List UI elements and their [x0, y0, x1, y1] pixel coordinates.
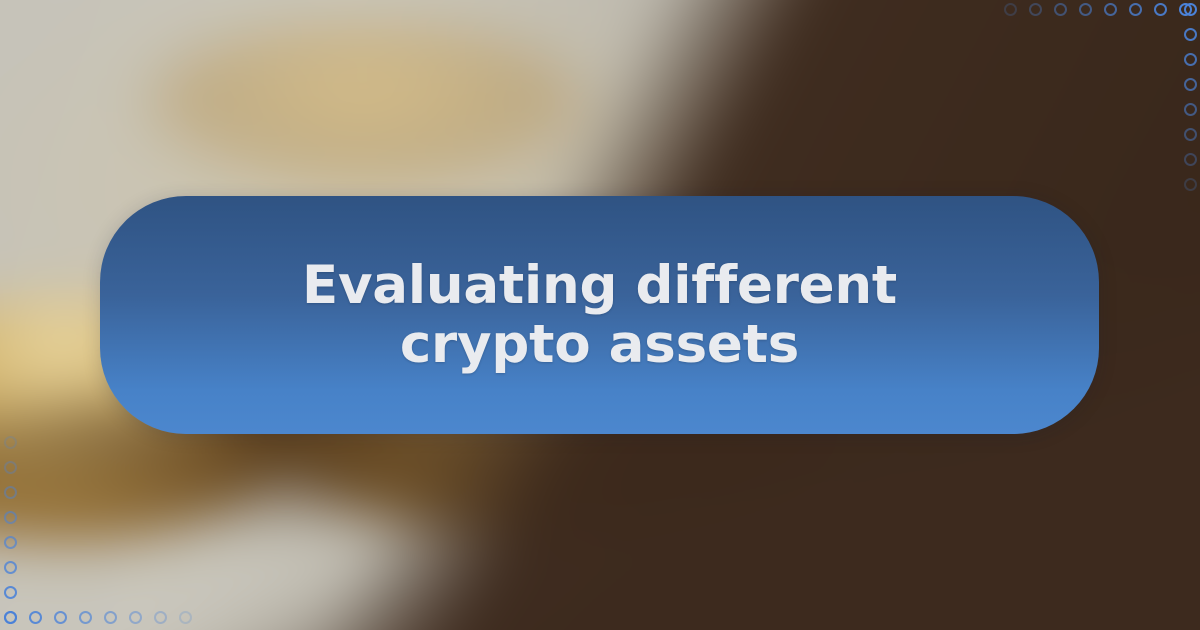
- decor-dot: [129, 611, 142, 624]
- decor-dot: [1184, 153, 1197, 166]
- decor-dot: [54, 611, 67, 624]
- decor-dots-bottom-left: [4, 611, 204, 627]
- decor-dot: [179, 611, 192, 624]
- decor-dot: [4, 536, 17, 549]
- decor-dots-right: [1184, 3, 1200, 203]
- decor-dot: [1129, 3, 1142, 16]
- decor-dot: [1184, 103, 1197, 116]
- decor-dot: [1184, 53, 1197, 66]
- decor-dot: [4, 461, 17, 474]
- decor-dot: [29, 611, 42, 624]
- decor-dot: [4, 436, 17, 449]
- decor-dot: [1154, 3, 1167, 16]
- decor-dot: [4, 486, 17, 499]
- decor-dots-left: [4, 436, 20, 630]
- decor-dot: [1184, 128, 1197, 141]
- slide-canvas: Evaluating different crypto assets: [0, 0, 1200, 630]
- title-card: Evaluating different crypto assets: [100, 196, 1099, 434]
- decor-dot: [1079, 3, 1092, 16]
- decor-dot: [4, 611, 17, 624]
- decor-dot: [154, 611, 167, 624]
- decor-dot: [1104, 3, 1117, 16]
- page-title: Evaluating different crypto assets: [250, 256, 950, 375]
- decor-dot: [1029, 3, 1042, 16]
- decor-dot: [1184, 78, 1197, 91]
- decor-dots-top-right: [1004, 3, 1200, 19]
- decor-dot: [1184, 178, 1197, 191]
- decor-dot: [104, 611, 117, 624]
- decor-dot: [1184, 3, 1197, 16]
- decor-dot: [4, 561, 17, 574]
- decor-dot: [4, 586, 17, 599]
- decor-dot: [1004, 3, 1017, 16]
- decor-dot: [1054, 3, 1067, 16]
- decor-dot: [4, 511, 17, 524]
- decor-dot: [1184, 28, 1197, 41]
- decor-dot: [79, 611, 92, 624]
